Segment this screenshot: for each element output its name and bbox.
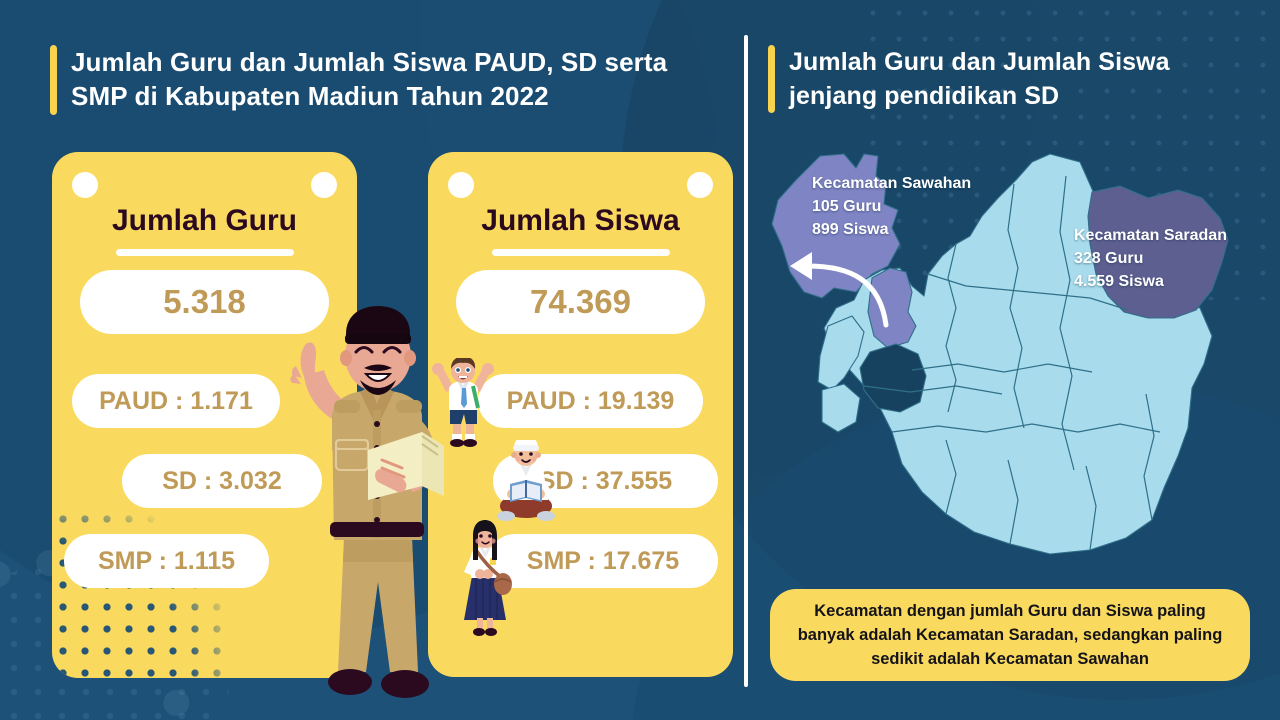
student-smp-illustration-icon [452, 520, 518, 638]
map-label-saradan-name: Kecamatan Saradan [1074, 224, 1227, 247]
map-caption-text: Kecamatan dengan jumlah Guru dan Siswa p… [784, 599, 1236, 671]
left-title-text: Jumlah Guru dan Jumlah Siswa PAUD, SD se… [71, 45, 730, 113]
right-section-title: Jumlah Guru dan Jumlah Siswa jenjang pen… [768, 45, 1238, 113]
student-paud-illustration-icon [428, 358, 498, 450]
siswa-total-value: 74.369 [456, 270, 705, 334]
student-sd-illustration-icon [488, 440, 564, 532]
title-accent-bar [50, 45, 57, 115]
card-title-underline [492, 249, 670, 256]
map-region-dark [860, 344, 926, 412]
map-label-sawahan-siswa: 899 Siswa [812, 218, 971, 241]
map-label-saradan: Kecamatan Saradan 328 Guru 4.559 Siswa [1074, 224, 1227, 293]
guru-paud-value: PAUD : 1.171 [72, 374, 280, 428]
infographic-canvas: Jumlah Guru dan Jumlah Siswa PAUD, SD se… [0, 0, 1280, 720]
card-title-underline [116, 249, 294, 256]
map-caption-box: Kecamatan dengan jumlah Guru dan Siswa p… [770, 589, 1250, 681]
guru-smp-value: SMP : 1.115 [64, 534, 269, 588]
map-region-sawahan [868, 268, 916, 348]
punch-hole-left-icon [72, 172, 98, 198]
siswa-smp-value: SMP : 17.675 [488, 534, 718, 588]
punch-hole-right-icon [687, 172, 713, 198]
map-label-saradan-siswa: 4.559 Siswa [1074, 270, 1227, 293]
left-section-title: Jumlah Guru dan Jumlah Siswa PAUD, SD se… [50, 45, 730, 115]
punch-hole-right-icon [311, 172, 337, 198]
map-label-sawahan-guru: 105 Guru [812, 195, 971, 218]
map-spur-left-lower [822, 384, 860, 432]
punch-hole-left-icon [448, 172, 474, 198]
siswa-paud-value: PAUD : 19.139 [478, 374, 703, 428]
vertical-divider [744, 35, 748, 687]
title-accent-bar [768, 45, 775, 113]
map-label-sawahan-name: Kecamatan Sawahan [812, 172, 971, 195]
card-guru-title: Jumlah Guru [52, 204, 357, 238]
right-title-text: Jumlah Guru dan Jumlah Siswa jenjang pen… [789, 45, 1238, 113]
card-siswa-title: Jumlah Siswa [428, 204, 733, 238]
map-label-sawahan: Kecamatan Sawahan 105 Guru 899 Siswa [812, 172, 971, 241]
map-label-saradan-guru: 328 Guru [1074, 247, 1227, 270]
